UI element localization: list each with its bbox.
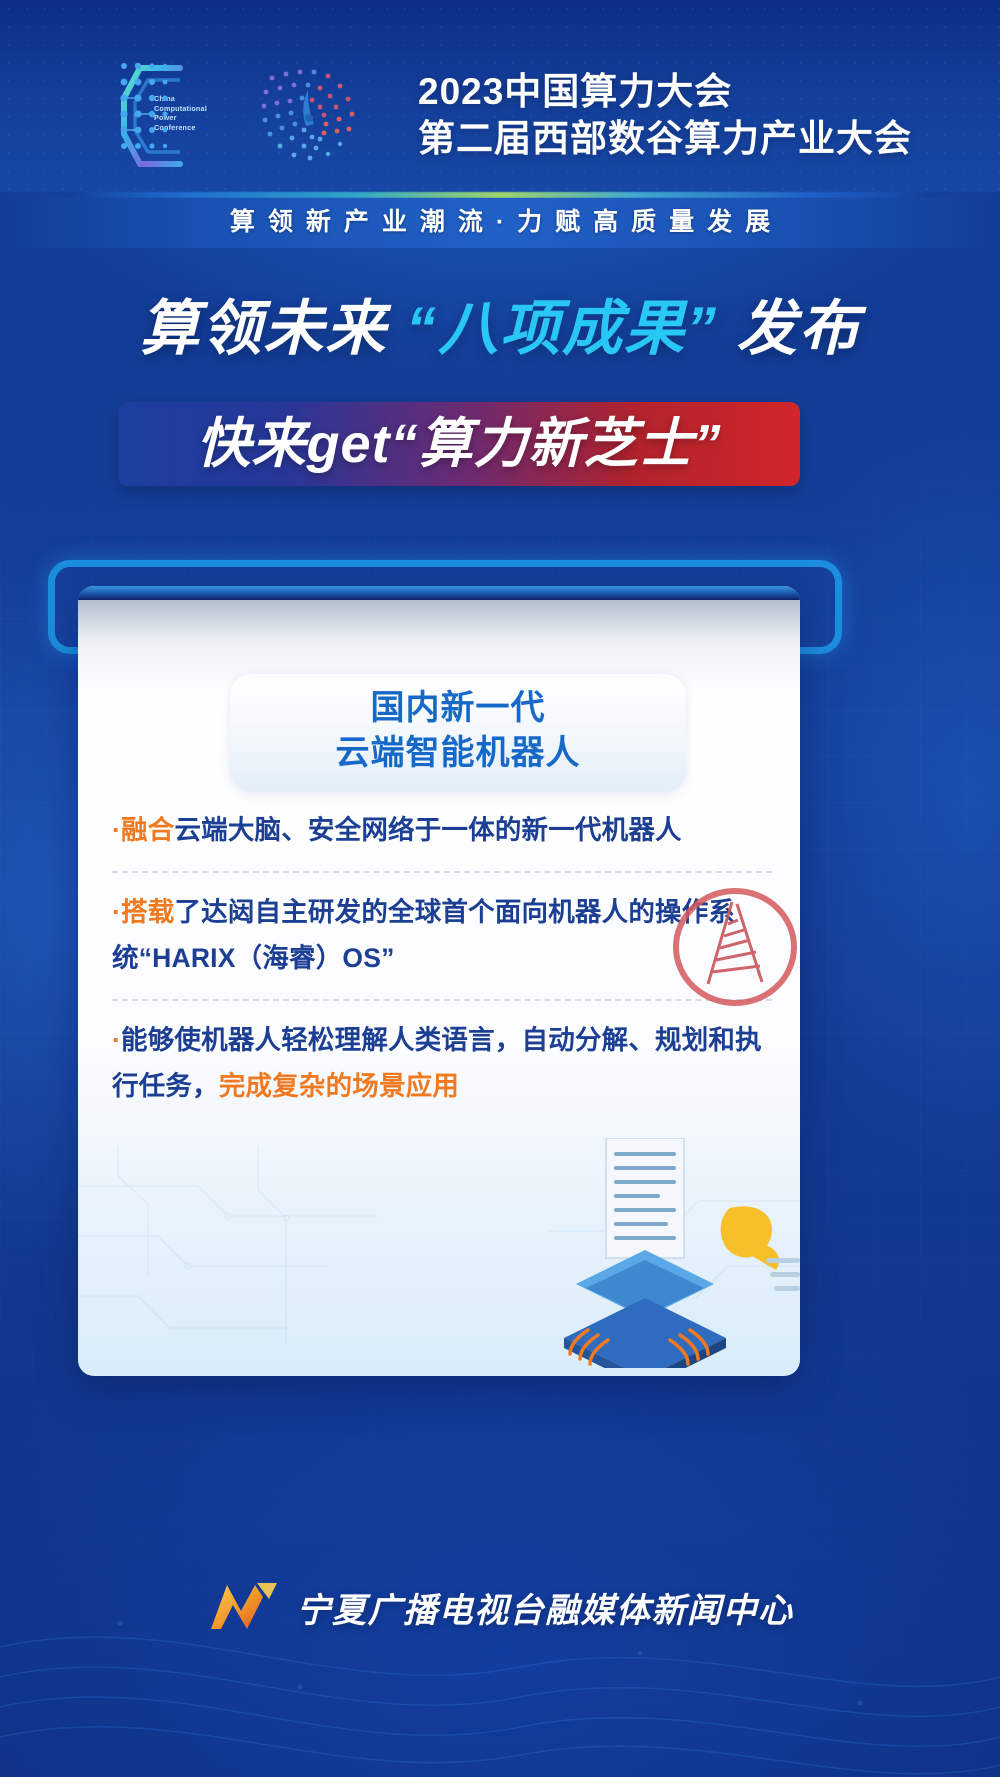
headline-line2: 快来get“算力新芝士” — [118, 402, 800, 486]
poster-headline: 算领未来 “八项成果” 发布 快来get“算力新芝士” — [0, 292, 1000, 366]
page-header: China Computational Power Conference — [0, 0, 1000, 192]
footer-wave-decoration — [0, 1527, 1000, 1777]
card-title-line2: 云端智能机器人 — [248, 731, 668, 776]
nxtv-n-icon — [207, 1579, 281, 1635]
card-top-bar — [78, 586, 800, 600]
conference-radial-logo — [252, 58, 370, 174]
bullet-keyword-2: 搭载 — [121, 897, 174, 927]
bullet-marker-1: · — [112, 815, 121, 845]
card-illustration — [518, 1138, 800, 1368]
bullet-tail-keyword-3: 完成复杂的场景应用 — [219, 1071, 459, 1101]
card-title-line1: 国内新一代 — [248, 686, 668, 731]
stamp-icon — [668, 880, 800, 1014]
stamp-circle-eight — [668, 880, 800, 1014]
bullet-item-3: ·能够使机器人轻松理解人类语言，自动分解、规划和执行任务，完成复杂的场景应用 — [110, 1001, 774, 1127]
slogan-text: 算领新产业潮流·力赋高质量发展 — [0, 202, 1000, 238]
conference-title-line2: 第二届西部数谷算力产业大会 — [418, 115, 912, 163]
bullet-item-1: ·融合云端大脑、安全网络于一体的新一代机器人 — [110, 791, 774, 871]
bullet-keyword-1: 融合 — [121, 815, 174, 845]
conference-title-line1: 2023中国算力大会 — [418, 69, 912, 115]
headline-line1-suffix: 发布 — [718, 295, 861, 362]
bullet-marker-2: · — [112, 897, 121, 927]
headline-line1-highlight: “八项成果” — [406, 295, 718, 362]
card-title-pill: 国内新一代 云端智能机器人 — [230, 674, 686, 792]
conference-title: 2023中国算力大会 第二届西部数谷算力产业大会 — [418, 69, 912, 163]
bullet-marker-3: · — [112, 1025, 121, 1055]
headline-line1: 算领未来 “八项成果” 发布 — [0, 292, 1000, 366]
headline-line1-prefix: 算领未来 — [139, 295, 406, 362]
bullet-text-2: 了达闼自主研发的全球首个面向机器人的操作系统“HARIX（海睿）OS” — [112, 897, 735, 973]
logo-dot-matrix-icon — [118, 58, 176, 162]
conference-hexagon-logo: China Computational Power Conference — [118, 58, 230, 174]
footer-brand: 宁夏广播电视台融媒体新闻中心 — [0, 1579, 1000, 1635]
bullet-text-1: 云端大脑、安全网络于一体的新一代机器人 — [174, 815, 681, 845]
document-pedestal-illustration-icon — [518, 1138, 800, 1368]
nxtv-logo — [207, 1579, 281, 1635]
result-card: 国内新一代 云端智能机器人 ·融合云端大脑、安全网络于一体的新一代机器人 ·搭载… — [78, 586, 800, 1376]
page-footer: 宁夏广播电视台融媒体新闻中心 — [0, 1527, 1000, 1777]
radial-burst-icon — [252, 58, 370, 174]
slogan-band: 算领新产业潮流·力赋高质量发展 — [0, 192, 1000, 254]
footer-text: 宁夏广播电视台融媒体新闻中心 — [297, 1583, 794, 1632]
